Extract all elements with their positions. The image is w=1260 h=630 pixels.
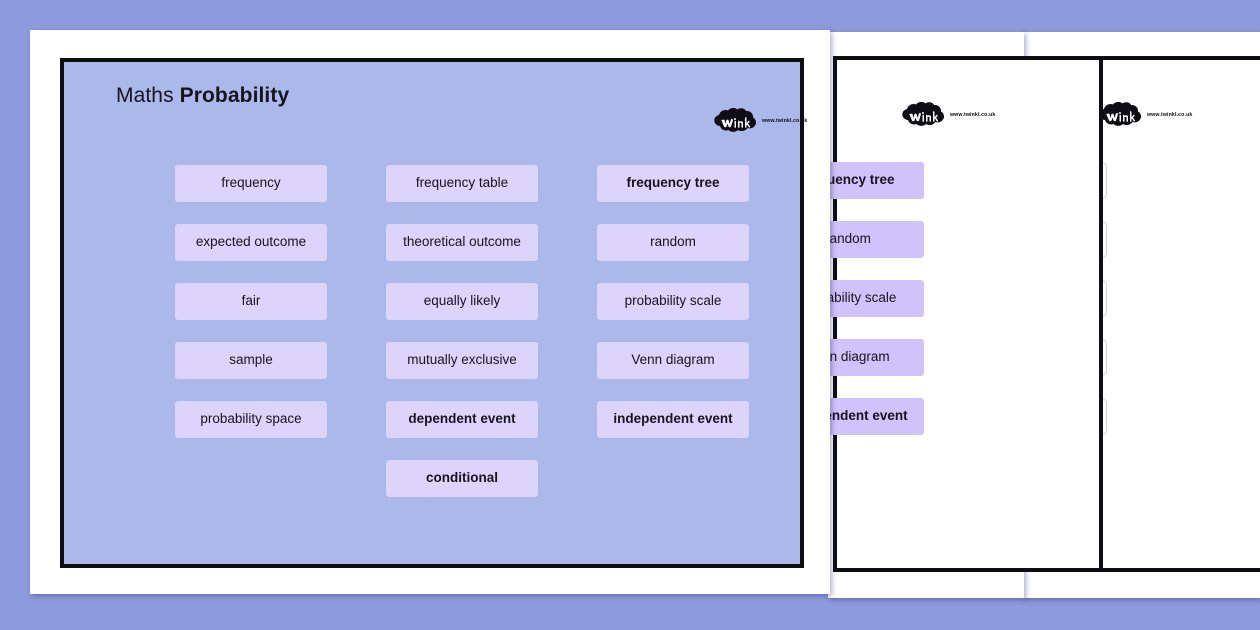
card-frequency-tree[interactable]: frequency tree bbox=[597, 165, 749, 202]
twinkl-logo-page-2: www.twinkl.co.uk bbox=[897, 102, 995, 128]
card-probability-scale[interactable]: probability scale bbox=[597, 283, 749, 320]
page-2-frame: www.twinkl.co.uk frequency tree random p… bbox=[833, 56, 1103, 572]
twinkl-url-text: www.twinkl.co.uk bbox=[950, 112, 995, 118]
twinkl-cloud-icon bbox=[897, 102, 945, 128]
card-dependent-event[interactable]: dependent event bbox=[386, 401, 538, 438]
card-equally-likely[interactable]: equally likely bbox=[386, 283, 538, 320]
twinkl-logo-page-1: www.twinkl.co.uk bbox=[709, 108, 807, 134]
page-title-subject: Maths bbox=[116, 84, 180, 107]
card-fair[interactable]: fair bbox=[175, 283, 327, 320]
twinkl-logo-page-3: www.twinkl.co.uk bbox=[1094, 102, 1192, 128]
card-frequency-table[interactable]: frequency table bbox=[386, 165, 538, 202]
card-venn-diagram[interactable]: Venn diagram bbox=[597, 342, 749, 379]
page-1-frame: Maths Probability www.twinkl.co.uk frequ… bbox=[60, 58, 804, 568]
page-title-topic: Probability bbox=[180, 84, 290, 107]
card-probability-space[interactable]: probability space bbox=[175, 401, 327, 438]
card-sample[interactable]: sample bbox=[175, 342, 327, 379]
twinkl-cloud-icon bbox=[709, 108, 757, 134]
worksheet-page-1[interactable]: Maths Probability www.twinkl.co.uk frequ… bbox=[30, 30, 830, 594]
card-mutually-exclusive[interactable]: mutually exclusive bbox=[386, 342, 538, 379]
twinkl-url-text: www.twinkl.co.uk bbox=[762, 118, 807, 124]
card-frequency[interactable]: frequency bbox=[175, 165, 327, 202]
page-title: Maths Probability bbox=[116, 84, 289, 108]
card-random[interactable]: random bbox=[597, 224, 749, 261]
card-theoretical-outcome[interactable]: theoretical outcome bbox=[386, 224, 538, 261]
worksheet-page-2[interactable]: www.twinkl.co.uk frequency tree random p… bbox=[828, 32, 1024, 598]
card-expected-outcome[interactable]: expected outcome bbox=[175, 224, 327, 261]
card-independent-event[interactable]: independent event bbox=[597, 401, 749, 438]
twinkl-url-text: www.twinkl.co.uk bbox=[1147, 112, 1192, 118]
card-conditional[interactable]: conditional bbox=[386, 460, 538, 497]
